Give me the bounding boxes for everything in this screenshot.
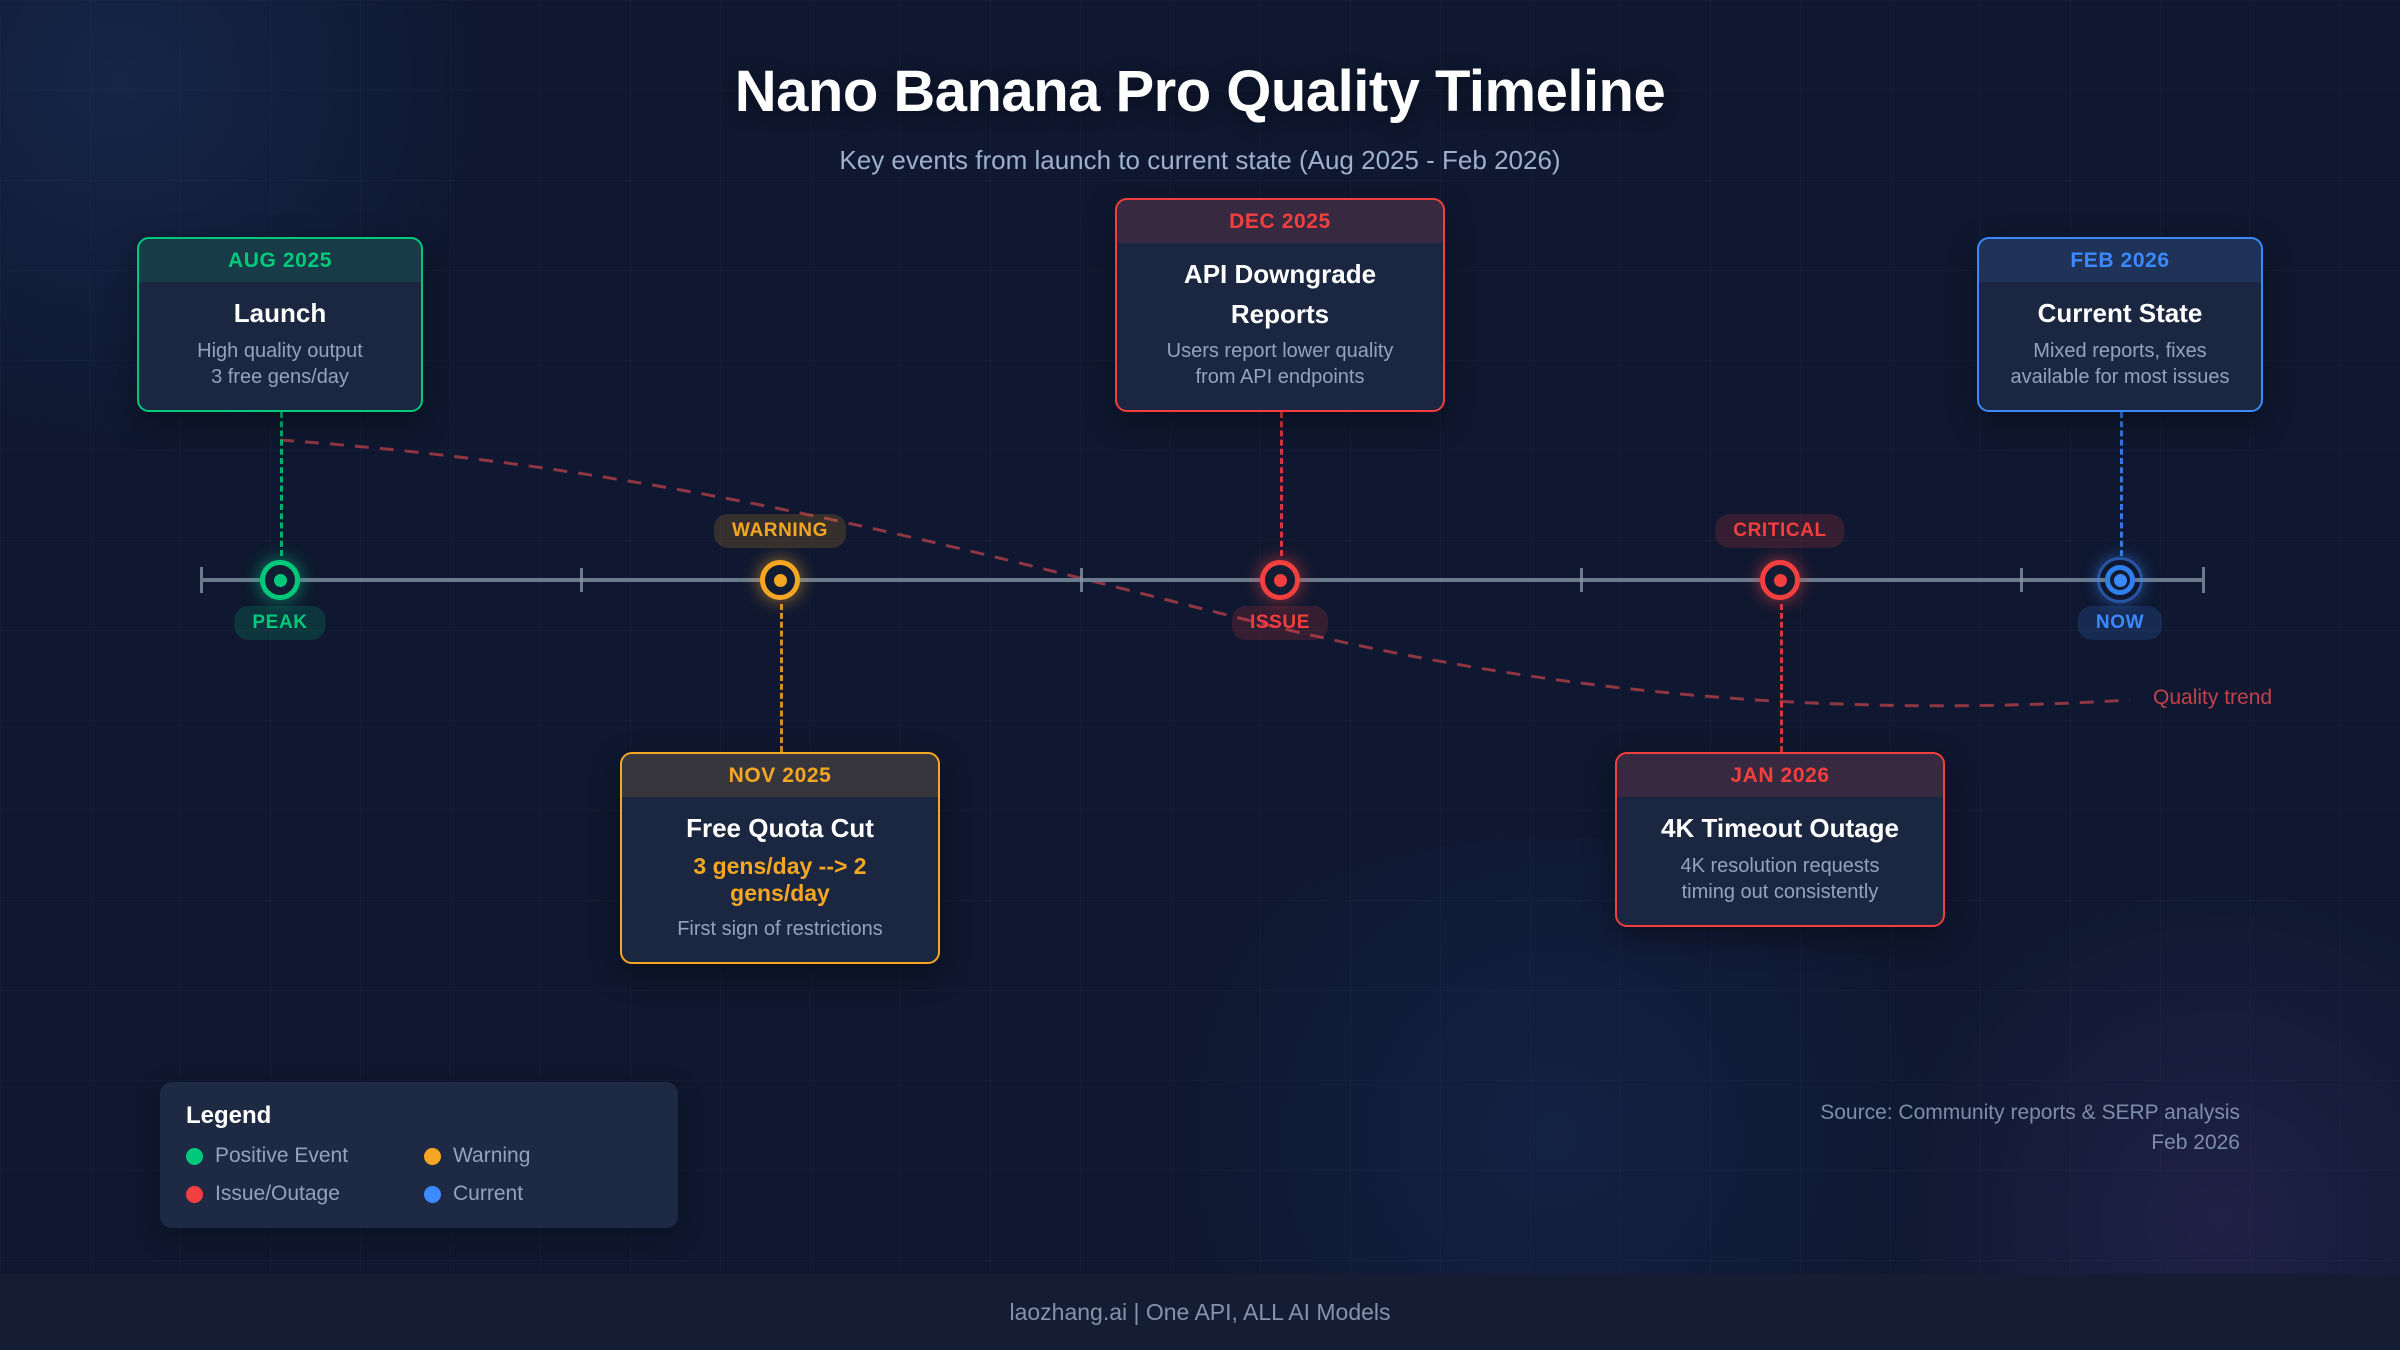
axis-tick <box>2020 568 2023 592</box>
card-body: Free Quota Cut3 gens/day --> 2 gens/dayF… <box>622 797 938 962</box>
legend-item: Current <box>424 1182 652 1206</box>
timeline-connector-nov-2025 <box>780 604 783 752</box>
source-line-2: Feb 2026 <box>1820 1128 2240 1158</box>
timeline-marker-aug-2025[interactable] <box>260 560 300 600</box>
marker-inner-ring <box>2105 565 2135 595</box>
timeline-badge-jan-2026: CRITICAL <box>1715 514 1844 548</box>
timeline-card-dec-2025[interactable]: DEC 2025API DowngradeReportsUsers report… <box>1115 198 1445 412</box>
timeline-card-nov-2025[interactable]: NOV 2025Free Quota Cut3 gens/day --> 2 g… <box>620 752 940 964</box>
legend-item: Warning <box>424 1144 652 1168</box>
legend-item-label: Warning <box>453 1144 530 1168</box>
card-title: Current State <box>1999 298 2241 329</box>
marker-dot <box>2114 574 2127 587</box>
card-desc: Mixed reports, fixes <box>1999 338 2241 364</box>
timeline-connector-dec-2025 <box>1280 412 1283 556</box>
source-line-1: Source: Community reports & SERP analysi… <box>1820 1098 2240 1128</box>
timeline-card-jan-2026[interactable]: JAN 20264K Timeout Outage4K resolution r… <box>1615 752 1945 927</box>
timeline-badge-aug-2025: PEAK <box>234 606 325 640</box>
timeline-card-aug-2025[interactable]: AUG 2025LaunchHigh quality output3 free … <box>137 237 423 412</box>
timeline-marker-jan-2026[interactable] <box>1760 560 1800 600</box>
marker-dot <box>274 574 287 587</box>
card-title: Reports <box>1137 299 1423 330</box>
timeline-badge-feb-2026: NOW <box>2078 606 2162 640</box>
marker-dot <box>774 574 787 587</box>
card-body: 4K Timeout Outage4K resolution requestst… <box>1617 797 1943 925</box>
card-date: DEC 2025 <box>1117 200 1443 243</box>
source-note: Source: Community reports & SERP analysi… <box>1820 1098 2240 1159</box>
legend-color-dot <box>186 1148 203 1165</box>
marker-dot <box>1774 574 1787 587</box>
timeline-marker-dec-2025[interactable] <box>1260 560 1300 600</box>
card-body: API DowngradeReportsUsers report lower q… <box>1117 243 1443 410</box>
card-title: Free Quota Cut <box>642 813 918 844</box>
timeline-badge-nov-2025: WARNING <box>714 514 846 548</box>
axis-start-cap <box>200 567 203 593</box>
legend-item-label: Positive Event <box>215 1144 348 1168</box>
timeline-connector-feb-2026 <box>2120 412 2123 556</box>
card-title: 4K Timeout Outage <box>1637 813 1923 844</box>
axis-tick <box>1080 568 1083 592</box>
timeline-marker-nov-2025[interactable] <box>760 560 800 600</box>
legend-item: Positive Event <box>186 1144 414 1168</box>
timeline-connector-jan-2026 <box>1780 604 1783 752</box>
axis-end-cap <box>2202 567 2205 593</box>
legend-title: Legend <box>186 1102 652 1130</box>
card-body: Current StateMixed reports, fixesavailab… <box>1979 282 2261 410</box>
trend-label: Quality trend <box>2153 686 2272 710</box>
card-date: AUG 2025 <box>139 239 421 282</box>
card-highlight: 3 gens/day --> 2 gens/day <box>642 853 918 907</box>
footer-bar: laozhang.ai | One API, ALL AI Models <box>0 1274 2400 1350</box>
marker-dot <box>1274 574 1287 587</box>
page-title: Nano Banana Pro Quality Timeline <box>0 58 2400 125</box>
timeline-connector-aug-2025 <box>280 412 283 556</box>
axis-tick <box>580 568 583 592</box>
card-date: NOV 2025 <box>622 754 938 797</box>
legend-color-dot <box>186 1186 203 1203</box>
legend-color-dot <box>424 1186 441 1203</box>
page-subtitle: Key events from launch to current state … <box>0 145 2400 176</box>
card-date: JAN 2026 <box>1617 754 1943 797</box>
legend-color-dot <box>424 1148 441 1165</box>
card-desc: timing out consistently <box>1637 879 1923 905</box>
legend-item: Issue/Outage <box>186 1182 414 1206</box>
card-desc: from API endpoints <box>1137 364 1423 390</box>
card-body: LaunchHigh quality output3 free gens/day <box>139 282 421 410</box>
legend-item-label: Current <box>453 1182 523 1206</box>
card-desc: Users report lower quality <box>1137 338 1423 364</box>
legend-panel: Legend Positive EventWarningIssue/Outage… <box>160 1082 678 1228</box>
footer-text: laozhang.ai | One API, ALL AI Models <box>1009 1299 1390 1326</box>
legend-items: Positive EventWarningIssue/OutageCurrent <box>186 1144 652 1206</box>
axis-tick <box>1580 568 1583 592</box>
card-desc: 3 free gens/day <box>159 364 401 390</box>
legend-item-label: Issue/Outage <box>215 1182 340 1206</box>
card-title: API Downgrade <box>1137 259 1423 290</box>
timeline-badge-dec-2025: ISSUE <box>1232 606 1328 640</box>
timeline-card-feb-2026[interactable]: FEB 2026Current StateMixed reports, fixe… <box>1977 237 2263 412</box>
card-desc: First sign of restrictions <box>642 916 918 942</box>
card-desc: High quality output <box>159 338 401 364</box>
card-title: Launch <box>159 298 401 329</box>
timeline-marker-feb-2026[interactable] <box>2097 557 2143 603</box>
card-desc: available for most issues <box>1999 364 2241 390</box>
card-desc: 4K resolution requests <box>1637 853 1923 879</box>
timeline-axis <box>200 578 2205 582</box>
card-date: FEB 2026 <box>1979 239 2261 282</box>
